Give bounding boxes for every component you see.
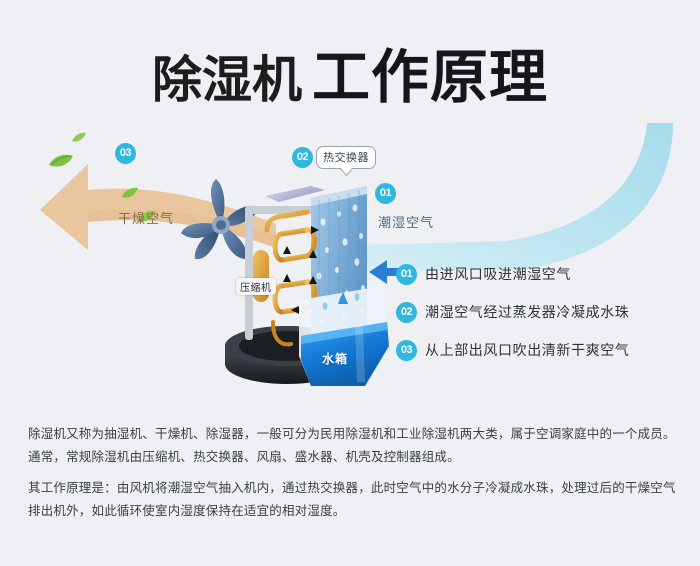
diagram-label-heat-exchanger: 02热交换器 — [292, 146, 376, 169]
compressor-tag: 压缩机 — [236, 278, 276, 295]
step-badge-01: 01 — [396, 264, 417, 285]
leaf-icon — [122, 187, 138, 199]
badge-02: 02 — [292, 147, 313, 168]
diagram-label-dry-air: 03 — [115, 143, 136, 164]
diagram-label-dry-air-text: 干燥空气 — [118, 208, 174, 227]
step-text-02: 潮湿空气经过蒸发器冷凝成水珠 — [425, 302, 629, 322]
page-title-part-1: 除湿机 — [152, 52, 302, 108]
water-tank-tag: 水箱 — [322, 350, 348, 367]
step-item: 02 潮湿空气经过蒸发器冷凝成水珠 — [396, 293, 686, 331]
leaf-icon — [48, 153, 74, 169]
step-badge-02: 02 — [396, 302, 417, 323]
description-paragraph-1: 除湿机又称为抽湿机、干燥机、除湿器，一般可分为民用除湿机和工业除湿机两大类，属于… — [28, 423, 678, 469]
badge-01: 01 — [375, 183, 396, 204]
step-badge-03: 03 — [396, 340, 417, 361]
description-paragraph-2: 其工作原理是：由风机将潮湿空气抽入机内，通过热交换器，此时空气中的水分子冷凝成水… — [28, 477, 678, 523]
badge-03: 03 — [115, 143, 136, 164]
step-item: 01 由进风口吸进潮湿空气 — [396, 255, 686, 293]
step-item: 03 从上部出风口吹出清新干爽空气 — [396, 331, 686, 369]
page-title-part-2: 工作原理 — [312, 45, 548, 110]
step-text-01: 由进风口吸进潮湿空气 — [425, 264, 571, 284]
step-text-03: 从上部出风口吹出清新干爽空气 — [425, 340, 629, 360]
heat-exchanger-callout: 热交换器 — [316, 146, 376, 169]
infographic-page: 除湿机工作原理 — [0, 0, 700, 566]
step-list: 01 由进风口吸进潮湿空气 02 潮湿空气经过蒸发器冷凝成水珠 03 从上部出风… — [396, 255, 686, 369]
page-title: 除湿机工作原理 — [0, 30, 700, 114]
leaf-icon — [72, 132, 86, 143]
diagram-label-humid-air: 01 — [375, 183, 396, 204]
diagram-label-humid-air-text: 潮湿空气 — [378, 212, 434, 231]
